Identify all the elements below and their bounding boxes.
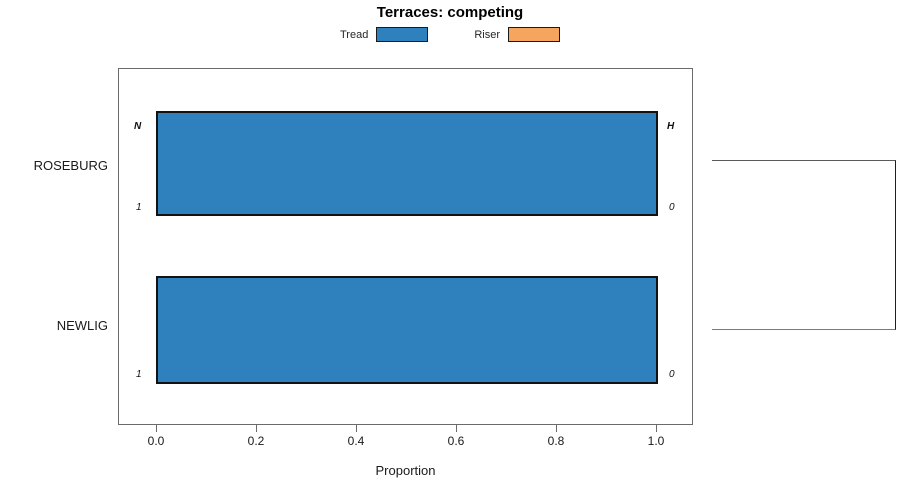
- legend-label-riser: Riser: [474, 29, 500, 41]
- x-tick-label-2: 0.4: [348, 434, 365, 448]
- chart-legend: Tread Riser: [0, 27, 900, 42]
- chart-title: Terraces: competing: [0, 4, 900, 21]
- x-tick-mark-5: [656, 425, 657, 432]
- chart-page: Terraces: competing Tread Riser ROSEBURG…: [0, 0, 900, 500]
- legend-label-tread: Tread: [340, 29, 368, 41]
- x-tick-mark-4: [556, 425, 557, 432]
- x-axis-title: Proportion: [118, 463, 693, 478]
- bar-roseburg-tread[interactable]: [156, 111, 658, 216]
- bar-annotation-newlig-bottom-right: 0: [669, 369, 675, 380]
- bar-newlig-tread[interactable]: [156, 276, 658, 384]
- legend-entry-riser[interactable]: Riser: [474, 27, 560, 42]
- x-tick-label-1: 0.2: [248, 434, 265, 448]
- x-tick-mark-0: [156, 425, 157, 432]
- bar-annotation-roseburg-top-right: H: [667, 121, 674, 132]
- y-axis-label-roseburg: ROSEBURG: [0, 158, 108, 173]
- x-tick-label-5: 1.0: [648, 434, 665, 448]
- bar-annotation-newlig-bottom-left: 1: [136, 369, 142, 380]
- legend-swatch-riser: [508, 27, 560, 42]
- x-tick-mark-2: [356, 425, 357, 432]
- bar-annotation-roseburg-bottom-left: 1: [136, 202, 142, 213]
- x-tick-mark-1: [256, 425, 257, 432]
- x-tick-label-4: 0.8: [548, 434, 565, 448]
- bar-annotation-roseburg-bottom-right: 0: [669, 202, 675, 213]
- y-axis-label-newlig: NEWLIG: [0, 318, 108, 333]
- x-tick-mark-3: [456, 425, 457, 432]
- x-tick-label-0: 0.0: [148, 434, 165, 448]
- legend-swatch-tread: [376, 27, 428, 42]
- bar-annotation-roseburg-top-left: N: [134, 121, 141, 132]
- legend-entry-tread[interactable]: Tread: [340, 27, 428, 42]
- plot-area: N H 1 0 1 0: [118, 68, 693, 425]
- x-tick-label-3: 0.6: [448, 434, 465, 448]
- right-panel-bracket: [712, 160, 896, 330]
